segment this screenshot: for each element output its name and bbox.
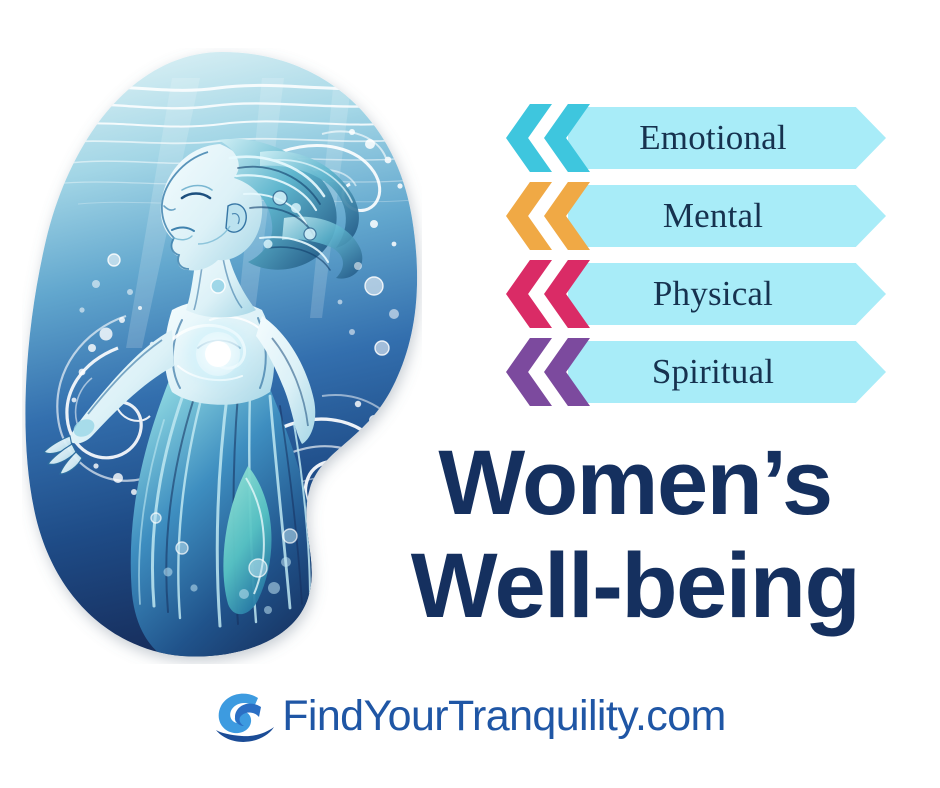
wellbeing-pillars-list: Emotional Mental Physical Spirit bbox=[506, 104, 886, 418]
title-line-2: Well-being bbox=[355, 535, 915, 638]
pillar-banner-physical[interactable]: Physical bbox=[506, 260, 886, 328]
pillar-label-mental: Mental bbox=[568, 185, 858, 247]
pillar-label-physical: Physical bbox=[568, 263, 858, 325]
logo-text: FindYourTranquility.com bbox=[282, 692, 725, 741]
pillar-banner-mental[interactable]: Mental bbox=[506, 182, 886, 250]
site-logo[interactable]: FindYourTranquility.com bbox=[0, 684, 940, 748]
pillar-banner-spiritual[interactable]: Spiritual bbox=[506, 338, 886, 406]
pillar-label-emotional: Emotional bbox=[568, 107, 858, 169]
poster-canvas: Emotional Mental Physical Spirit bbox=[0, 0, 940, 788]
title-line-1: Women’s bbox=[355, 432, 915, 535]
wave-icon bbox=[214, 687, 276, 745]
page-title: Women’s Well-being bbox=[355, 432, 915, 638]
pillar-banner-emotional[interactable]: Emotional bbox=[506, 104, 886, 172]
pillar-label-spiritual: Spiritual bbox=[568, 341, 858, 403]
